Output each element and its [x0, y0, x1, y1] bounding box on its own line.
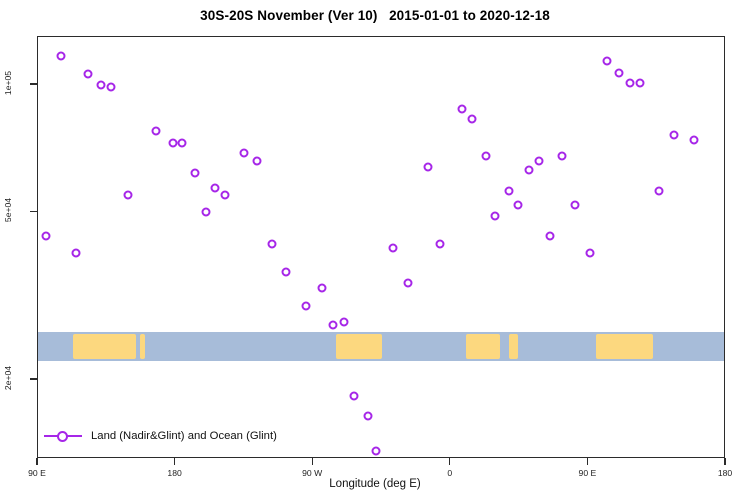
y-tick-label: 1e+05	[3, 63, 13, 103]
legend-label: Land (Nadir&Glint) and Ocean (Glint)	[82, 430, 277, 442]
plot-frame	[37, 36, 725, 458]
y-tick-label: 2e+04	[3, 358, 13, 398]
data-point	[220, 190, 229, 199]
data-point	[423, 162, 432, 171]
x-tick	[724, 458, 725, 465]
x-tick-label: 90 E	[28, 468, 46, 478]
data-point	[504, 187, 513, 196]
data-point	[403, 278, 412, 287]
land-region	[509, 334, 518, 359]
data-point	[689, 136, 698, 145]
x-tick-label: 0	[447, 468, 452, 478]
x-tick	[312, 458, 313, 465]
data-point	[468, 115, 477, 124]
data-point	[202, 208, 211, 217]
plot-area	[38, 37, 724, 457]
land-region	[73, 334, 136, 359]
data-point	[329, 321, 338, 330]
data-point	[457, 104, 466, 113]
y-tick-label: 5e+04	[3, 190, 13, 230]
y-tick	[30, 83, 37, 84]
data-point	[124, 190, 133, 199]
land-region	[140, 334, 145, 359]
data-point	[84, 70, 93, 79]
data-point	[535, 157, 544, 166]
data-point	[585, 249, 594, 258]
data-point	[72, 249, 81, 258]
x-tick-label: 180	[167, 468, 181, 478]
chart-root: 30S-20S November (Ver 10) 2015-01-01 to …	[0, 0, 750, 500]
x-tick	[449, 458, 450, 465]
data-point	[56, 52, 65, 61]
data-point	[570, 200, 579, 209]
data-point	[240, 149, 249, 158]
data-point	[670, 131, 679, 140]
legend-circle-icon	[57, 431, 68, 442]
data-point	[524, 165, 533, 174]
data-point	[281, 268, 290, 277]
data-point	[107, 82, 116, 91]
data-point	[191, 168, 200, 177]
data-point	[654, 187, 663, 196]
data-point	[168, 138, 177, 147]
x-axis-label: Longitude (deg E)	[0, 478, 750, 490]
geography-band	[38, 332, 724, 361]
data-point	[514, 200, 523, 209]
data-point	[318, 284, 327, 293]
data-point	[602, 57, 611, 66]
chart-title: 30S-20S November (Ver 10) 2015-01-01 to …	[0, 8, 750, 23]
legend: Land (Nadir&Glint) and Ocean (Glint)	[40, 423, 277, 449]
x-tick-label: 90 E	[579, 468, 597, 478]
land-region	[466, 334, 500, 359]
data-point	[364, 412, 373, 421]
data-point	[177, 138, 186, 147]
data-point	[636, 79, 645, 88]
data-point	[151, 126, 160, 135]
data-point	[301, 301, 310, 310]
y-tick	[30, 378, 37, 379]
y-tick	[30, 211, 37, 212]
data-point	[388, 244, 397, 253]
land-region	[596, 334, 653, 359]
data-point	[558, 151, 567, 160]
data-point	[614, 68, 623, 77]
legend-marker	[44, 430, 82, 443]
data-point	[252, 157, 261, 166]
data-point	[41, 231, 50, 240]
x-tick-label: 90 W	[302, 468, 322, 478]
x-tick	[174, 458, 175, 465]
data-point	[339, 317, 348, 326]
data-point	[371, 446, 380, 455]
data-point	[267, 240, 276, 249]
land-region	[336, 334, 382, 359]
x-tick	[587, 458, 588, 465]
data-point	[211, 184, 220, 193]
data-point	[96, 81, 105, 90]
data-point	[350, 392, 359, 401]
x-tick	[36, 458, 37, 465]
data-point	[436, 240, 445, 249]
data-point	[491, 211, 500, 220]
x-tick-label: 180	[718, 468, 732, 478]
data-point	[625, 79, 634, 88]
data-point	[546, 231, 555, 240]
data-point	[481, 151, 490, 160]
